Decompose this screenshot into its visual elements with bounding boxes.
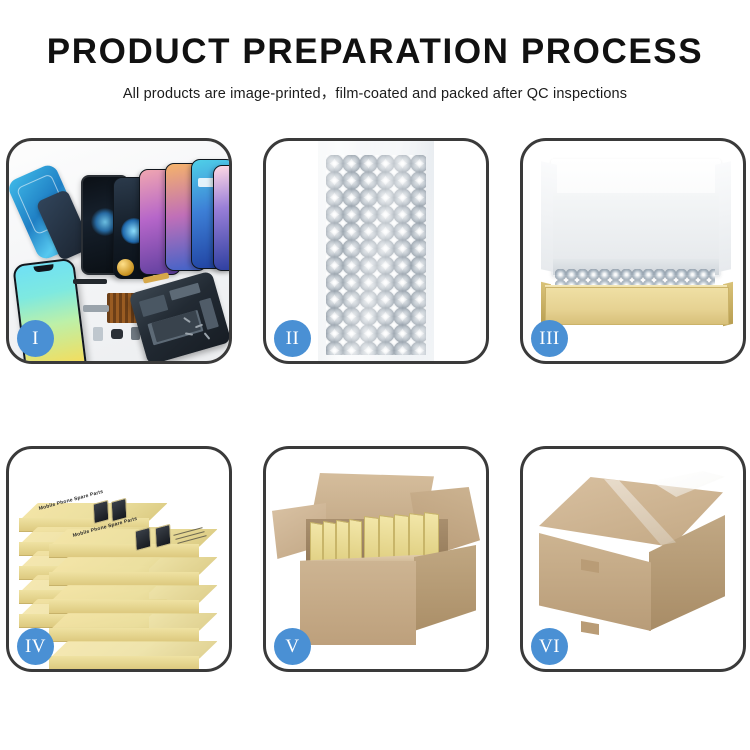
page-title: PRODUCT PREPARATION PROCESS (0, 34, 750, 71)
step-badge-6: VI (531, 628, 568, 665)
step-panel-4: Mobile Phone Spare Parts (6, 446, 232, 672)
step-badge-2: II (274, 320, 311, 357)
carton-front-panel (300, 561, 416, 645)
step-panel-2: II (263, 138, 489, 364)
white-lid-front (553, 193, 719, 265)
step-panel-6: VI (520, 446, 746, 672)
stacked-box: Mobile Phone Spare Parts (49, 529, 199, 555)
stacked-box (49, 641, 199, 667)
battery-strip-icon (73, 279, 107, 284)
carton-handle-tab-bottom (581, 621, 599, 635)
plastic-sheen (318, 141, 434, 361)
bubble-wrap-bag-icon (318, 141, 434, 361)
kraft-tray-icon (545, 287, 729, 325)
header: PRODUCT PREPARATION PROCESS All products… (0, 0, 750, 103)
step-badge-4: IV (17, 628, 54, 665)
page-subtitle: All products are image-printed，film-coat… (0, 82, 750, 103)
stacked-box (49, 585, 199, 611)
small-part-icon-2 (111, 329, 123, 339)
step-panel-5: V (263, 446, 489, 672)
step-panel-1: I (6, 138, 232, 364)
step-panel-3: III (520, 138, 746, 364)
screws-icon (181, 317, 221, 343)
steps-grid: I II III (6, 138, 746, 672)
stacked-box (49, 613, 199, 639)
stacked-box: Mobile Phone Spare Parts (19, 503, 149, 529)
small-part-icon-1 (93, 327, 103, 341)
gold-connector-icon (117, 259, 134, 276)
flex-cable-icon-3 (83, 305, 109, 312)
stacked-box (49, 557, 199, 583)
step-badge-1: I (17, 320, 54, 357)
carton-front-panel (539, 533, 651, 631)
flex-cable-icon-1 (143, 272, 170, 283)
product-preparation-infographic: PRODUCT PREPARATION PROCESS All products… (0, 0, 750, 750)
step-badge-3: III (531, 320, 568, 357)
carton-side-panel (414, 545, 476, 631)
phone-icon-5 (213, 165, 229, 271)
step-badge-5: V (274, 628, 311, 665)
